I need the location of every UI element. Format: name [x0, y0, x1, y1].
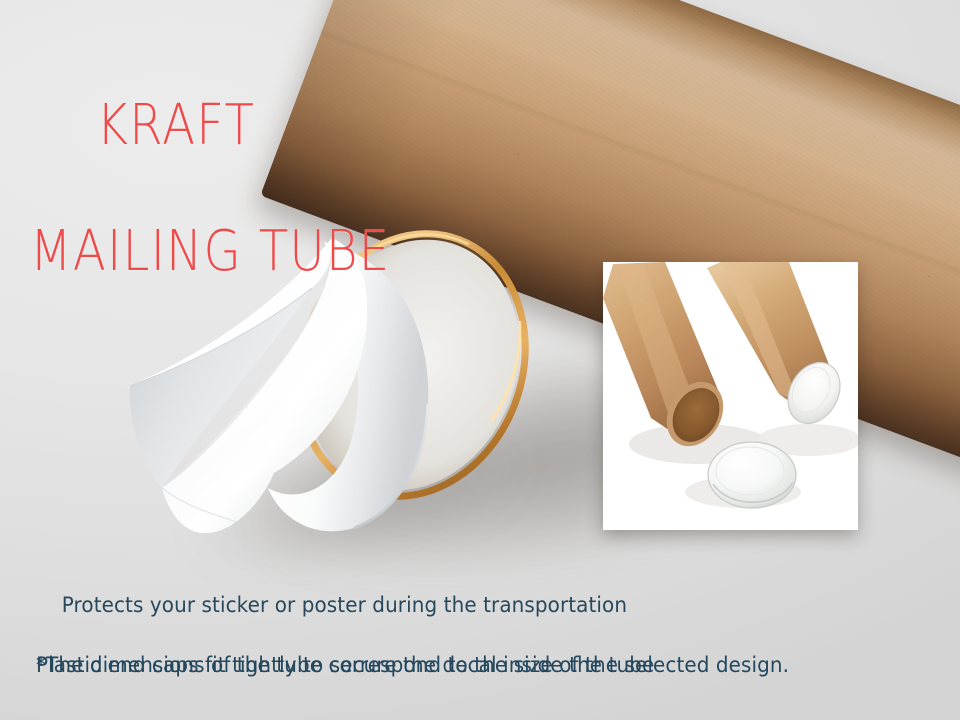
- inset-loose-end-cap: [708, 442, 796, 508]
- page-title: KRAFT MAILING TUBE: [30, 31, 391, 409]
- product-promo-image: KRAFT MAILING TUBE Protects your sticker…: [0, 0, 960, 720]
- headline-line-1: KRAFT: [96, 93, 255, 158]
- feature-line-1: Protects your sticker or poster during t…: [62, 593, 627, 617]
- footnote-text: *The dimensions of the tube correspond t…: [36, 653, 789, 677]
- feature-description: Protects your sticker or poster during t…: [36, 560, 654, 720]
- inset-product-photo: [603, 262, 858, 530]
- headline-line-2: MAILING TUBE: [30, 220, 391, 283]
